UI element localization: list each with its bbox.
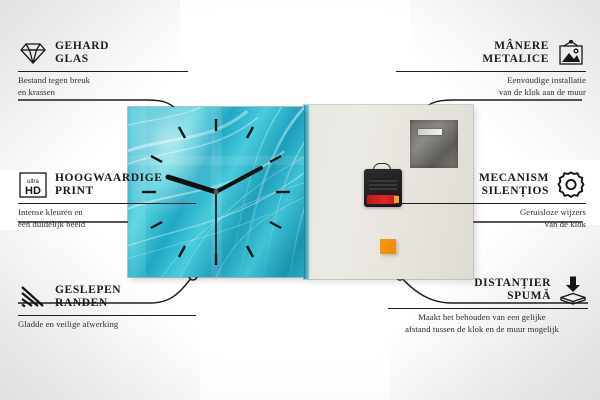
feature-title: GEHARD GLAS	[55, 40, 109, 67]
feature-subtitle: Gladde en veilige afwerking	[18, 319, 196, 331]
infographic-canvas: GEHARD GLAS Bestand tegen breuk en krass…	[0, 0, 600, 400]
hanger-slot	[418, 129, 442, 135]
feature-divider	[18, 203, 196, 204]
feature-header: MECANISM SILENȚIOS	[396, 170, 586, 200]
feature-subtitle: Geruisloze wijzers van de klok	[396, 207, 586, 230]
feature-divider	[18, 71, 188, 72]
feature-divider	[18, 315, 196, 316]
clock-center-cap	[213, 189, 218, 194]
picture-frame-icon	[556, 38, 586, 68]
feature-header: GEHARD GLAS	[18, 38, 188, 68]
feature-divider	[388, 308, 588, 309]
feature-subtitle: Bestand tegen breuk en krassen	[18, 75, 188, 98]
feature-divider	[396, 203, 586, 204]
glass-edge	[304, 105, 309, 279]
feature-subtitle: Maakt het behouden van een gelijke afsta…	[376, 312, 588, 335]
mechanism-hook	[373, 163, 391, 172]
hd-label: HD	[25, 185, 41, 197]
bevelled-edges-icon	[18, 282, 48, 312]
feature-manere-metalice: MÂNERE METALICE Eenvoudige installatie v…	[396, 38, 586, 98]
metal-hanger-plate	[410, 120, 458, 168]
gear-icon	[556, 170, 586, 200]
feature-hoogwaardige-print: ultra HD HOOGWAARDIGE PRINT Intense kleu…	[18, 170, 196, 230]
feature-header: DISTANȚIER SPUMĂ	[388, 275, 588, 305]
feature-title: MÂNERE METALICE	[482, 40, 549, 67]
feature-divider	[396, 71, 586, 72]
foam-spacer-icon	[558, 275, 588, 305]
minute-hand	[216, 168, 261, 192]
feature-title: DISTANȚIER SPUMĂ	[474, 277, 551, 304]
feature-title: HOOGWAARDIGE PRINT	[55, 172, 163, 199]
feature-header: GESLEPEN RANDEN	[18, 282, 196, 312]
battery	[367, 195, 398, 204]
mechanism-dial	[369, 178, 397, 190]
feature-header: MÂNERE METALICE	[396, 38, 586, 68]
feature-distantier-spuma: DISTANȚIER SPUMĂ Maakt het behouden van …	[388, 275, 588, 335]
feature-geslepen-randen: GESLEPEN RANDEN Gladde en veilige afwerk…	[18, 282, 196, 331]
feature-header: ultra HD HOOGWAARDIGE PRINT	[18, 170, 196, 200]
ultra-hd-icon: ultra HD	[18, 170, 48, 200]
diamond-icon	[18, 38, 48, 68]
feature-gehard-glas: GEHARD GLAS Bestand tegen breuk en krass…	[18, 38, 188, 98]
feature-subtitle: Intense kleuren en een duidelijk beeld	[18, 207, 196, 230]
foam-spacer	[380, 239, 396, 254]
feature-title: MECANISM SILENȚIOS	[479, 172, 549, 199]
feature-mecanism-silentios: MECANISM SILENȚIOS Geruisloze wijzers va…	[396, 170, 586, 230]
feature-title: GESLEPEN RANDEN	[55, 284, 121, 311]
feature-subtitle: Eenvoudige installatie van de klok aan d…	[396, 75, 586, 98]
